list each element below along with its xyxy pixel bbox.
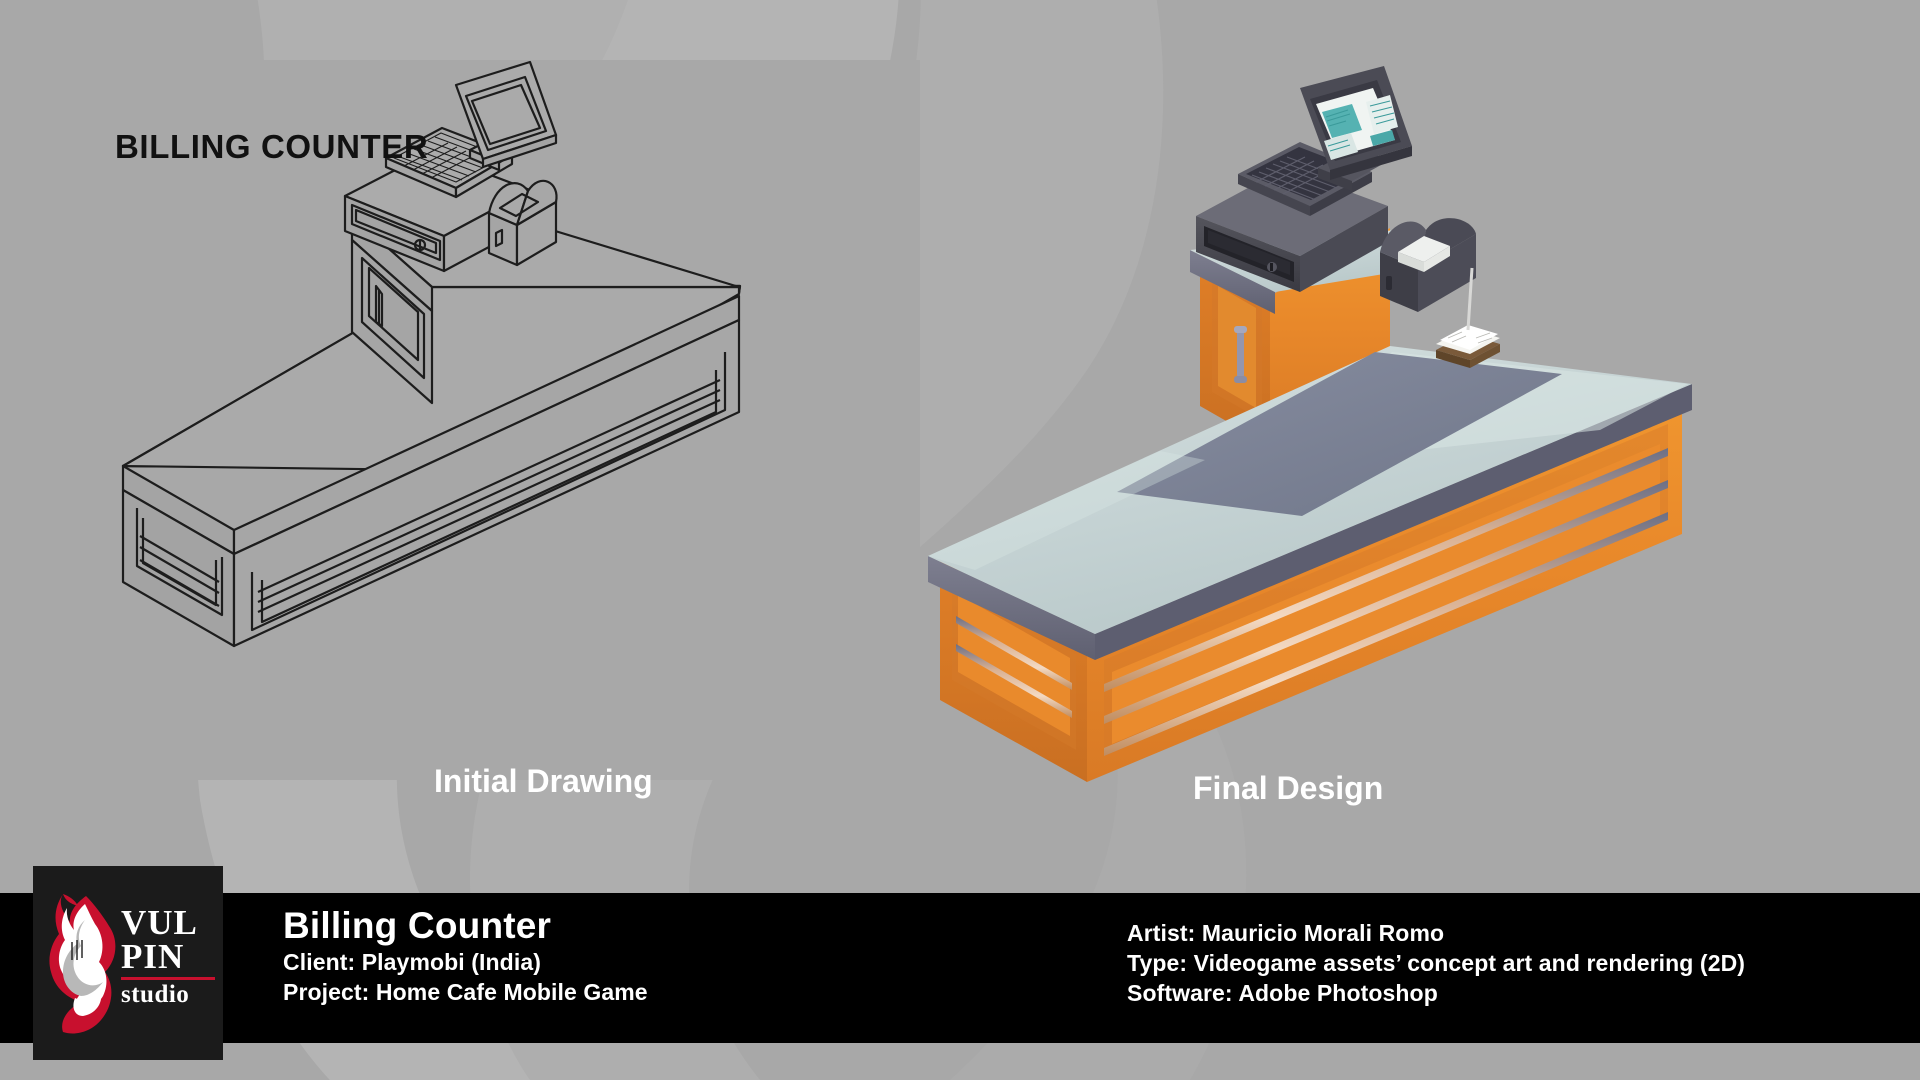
caption-initial-drawing: Initial Drawing xyxy=(434,763,653,800)
footer-right-block: Artist: Mauricio Morali Romo Type: Video… xyxy=(1127,918,1745,1008)
final-long-run xyxy=(928,346,1692,782)
final-receipt-printer xyxy=(1380,218,1476,312)
footer-project: Project: Home Cafe Mobile Game xyxy=(283,977,648,1007)
footer-artist: Artist: Mauricio Morali Romo xyxy=(1127,918,1745,948)
logo-rule xyxy=(121,977,215,980)
vulpin-flame-fox-icon xyxy=(45,890,125,1038)
poster-canvas: BILLING COUNTER Initial Drawing Final De… xyxy=(0,0,1920,1080)
footer-title: Billing Counter xyxy=(283,905,648,947)
page-title: BILLING COUNTER xyxy=(115,128,428,166)
footer-client: Client: Playmobi (India) xyxy=(283,947,648,977)
footer-left-block: Billing Counter Client: Playmobi (India)… xyxy=(283,905,648,1007)
logo-line-pin: PIN xyxy=(121,940,217,974)
logo-wordmark: VUL PIN studio xyxy=(121,906,217,1018)
footer-type: Type: Videogame assets’ concept art and … xyxy=(1127,948,1745,978)
caption-final-design: Final Design xyxy=(1193,770,1383,807)
footer-software: Software: Adobe Photoshop xyxy=(1127,978,1745,1008)
logo-line-studio: studio xyxy=(121,982,217,1008)
logo-line-vul: VUL xyxy=(121,906,217,940)
studio-logo[interactable]: VUL PIN studio xyxy=(33,866,223,1060)
